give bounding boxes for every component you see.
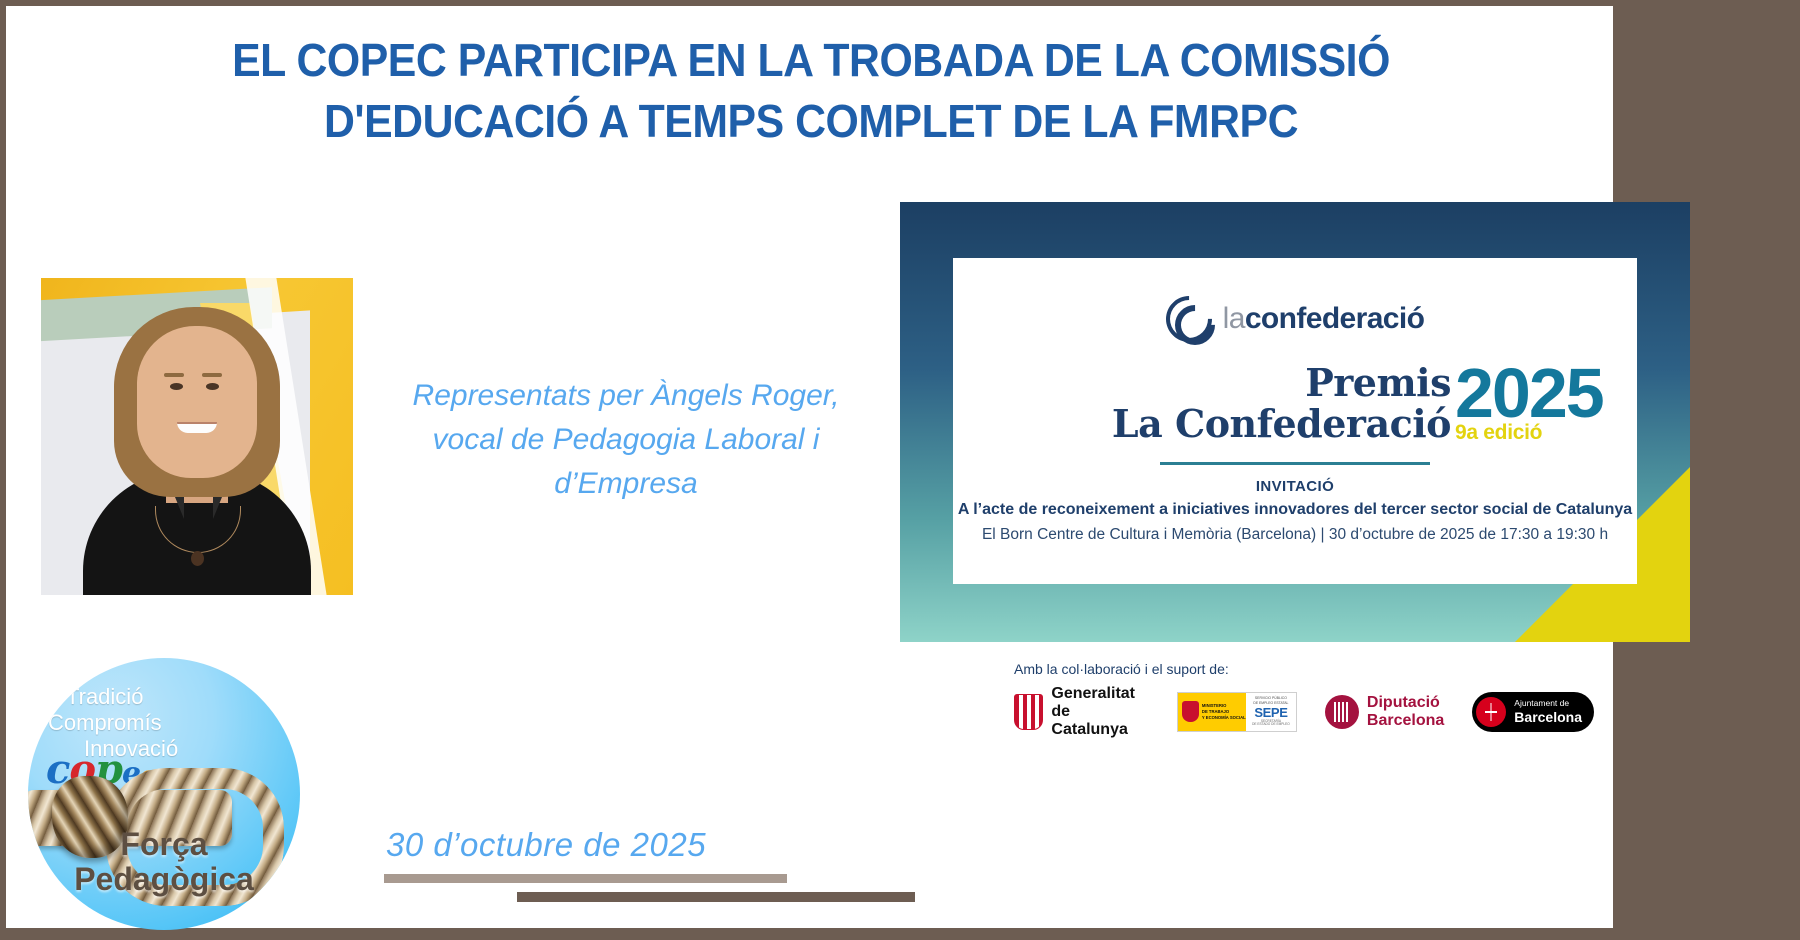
spain-crest-icon bbox=[1182, 701, 1199, 722]
sepe-footer-line-2: DE ESTADO DE EMPLEO bbox=[1252, 723, 1290, 727]
portrait-mouth bbox=[177, 422, 217, 433]
laconfederacio-name: confederació bbox=[1245, 302, 1425, 335]
confederacio-c-icon bbox=[1166, 296, 1212, 342]
caption-line-1: Representats per Àngels Roger, bbox=[366, 374, 886, 418]
ajuntament-line-2: Barcelona bbox=[1514, 709, 1582, 725]
award-title-text: Premis La Confederació bbox=[953, 364, 1451, 444]
portrait-eye-left bbox=[170, 383, 183, 390]
invitation-banner: laconfederació Premis La Confederació 20… bbox=[900, 202, 1690, 642]
sepe-service: SERVICIO PÚBLICO DE EMPLEO ESTATAL SEPE … bbox=[1246, 693, 1296, 731]
portrait-eyebrow-right bbox=[202, 373, 222, 377]
sepe-ministry-line-3: Y ECONOMÍA SOCIAL bbox=[1202, 715, 1246, 721]
diputacio-line-2: Barcelona bbox=[1367, 712, 1444, 730]
copec-motto-1: Força bbox=[28, 826, 300, 863]
invitation-subtitle: A l’acte de reconeixement a iniciatives … bbox=[953, 501, 1637, 519]
invitation-label: INVITACIÓ bbox=[953, 478, 1637, 495]
representation-caption: Representats per Àngels Roger, vocal de … bbox=[366, 374, 886, 505]
generalitat-label: Generalitat de Catalunya bbox=[1051, 685, 1149, 739]
page-title-line-1: EL COPEC PARTICIPA EN LA TROBADA DE LA C… bbox=[100, 30, 1523, 91]
laconfederacio-logo: laconfederació bbox=[953, 296, 1637, 342]
caption-line-3: d’Empresa bbox=[366, 462, 886, 506]
sepe-ministry-label: MINISTERIO DE TRABAJO Y ECONOMÍA SOCIAL bbox=[1202, 703, 1246, 720]
sponsors-section: Amb la col·laboració i el suport de: Gen… bbox=[1014, 661, 1594, 739]
copec-tagline-1: Tradició bbox=[66, 686, 143, 708]
sponsor-generalitat: Generalitat de Catalunya bbox=[1014, 685, 1149, 739]
laconfederacio-la: la bbox=[1223, 302, 1245, 335]
divider bbox=[1160, 462, 1430, 465]
award-title-line-2: La Confederació bbox=[953, 404, 1451, 444]
sponsor-sepe: MINISTERIO DE TRABAJO Y ECONOMÍA SOCIAL … bbox=[1177, 692, 1297, 732]
portrait-eyebrow-left bbox=[164, 373, 184, 377]
decorative-bar-dark bbox=[517, 892, 915, 902]
decorative-bar-light bbox=[384, 874, 787, 883]
avatar bbox=[41, 278, 353, 595]
ajuntament-seal-icon bbox=[1476, 697, 1506, 727]
sponsors-row: Generalitat de Catalunya MINISTERIO DE T… bbox=[1014, 685, 1594, 739]
generalitat-shield-icon bbox=[1014, 694, 1043, 730]
ajuntament-line-1: Ajuntament de bbox=[1514, 699, 1582, 709]
page-title-line-2: D'EDUCACIÓ A TEMPS COMPLET DE LA FMRPC bbox=[100, 91, 1523, 152]
sponsors-label: Amb la col·laboració i el suport de: bbox=[1014, 661, 1594, 677]
ajuntament-pill: Ajuntament de Barcelona bbox=[1472, 692, 1594, 732]
award-year-block: 2025 9a edició bbox=[1455, 360, 1603, 445]
invitation-card: laconfederació Premis La Confederació 20… bbox=[953, 258, 1637, 584]
ajuntament-label: Ajuntament de Barcelona bbox=[1514, 699, 1582, 725]
diputacio-label: Diputació Barcelona bbox=[1367, 694, 1444, 730]
copec-logo: Tradició Compromís Innovació copec Força… bbox=[28, 658, 300, 930]
sepe-ministry: MINISTERIO DE TRABAJO Y ECONOMÍA SOCIAL bbox=[1178, 693, 1246, 731]
laconfederacio-wordmark: laconfederació bbox=[1223, 302, 1425, 336]
award-year: 2025 bbox=[1455, 360, 1603, 427]
diputacio-line-1: Diputació bbox=[1367, 694, 1444, 712]
copec-tagline-2: Compromís bbox=[48, 712, 162, 734]
portrait-eye-right bbox=[206, 383, 219, 390]
page-title: EL COPEC PARTICIPA EN LA TROBADA DE LA C… bbox=[100, 30, 1523, 151]
generalitat-line-2: de Catalunya bbox=[1051, 703, 1149, 739]
sponsor-ajuntament: Ajuntament de Barcelona bbox=[1472, 692, 1594, 732]
copec-motto-2: Pedagògica bbox=[28, 861, 300, 898]
event-date: 30 d’octubre de 2025 bbox=[386, 826, 706, 864]
portrait-face bbox=[137, 326, 257, 478]
diputacio-seal-icon bbox=[1325, 695, 1359, 729]
award-title-block: Premis La Confederació 2025 9a edició bbox=[953, 364, 1637, 450]
sepe-box: MINISTERIO DE TRABAJO Y ECONOMÍA SOCIAL … bbox=[1177, 692, 1297, 732]
caption-line-2: vocal de Pedagogia Laboral i bbox=[366, 418, 886, 462]
generalitat-line-1: Generalitat bbox=[1051, 685, 1149, 703]
award-title-line-1: Premis bbox=[953, 364, 1451, 402]
invitation-place-and-time: El Born Centre de Cultura i Memòria (Bar… bbox=[953, 526, 1637, 544]
sepe-acronym: SEPE bbox=[1254, 705, 1287, 720]
portrait-pendant bbox=[191, 551, 204, 566]
slide-stage: EL COPEC PARTICIPA EN LA TROBADA DE LA C… bbox=[0, 0, 1800, 940]
sponsor-diputacio: Diputació Barcelona bbox=[1325, 694, 1444, 730]
